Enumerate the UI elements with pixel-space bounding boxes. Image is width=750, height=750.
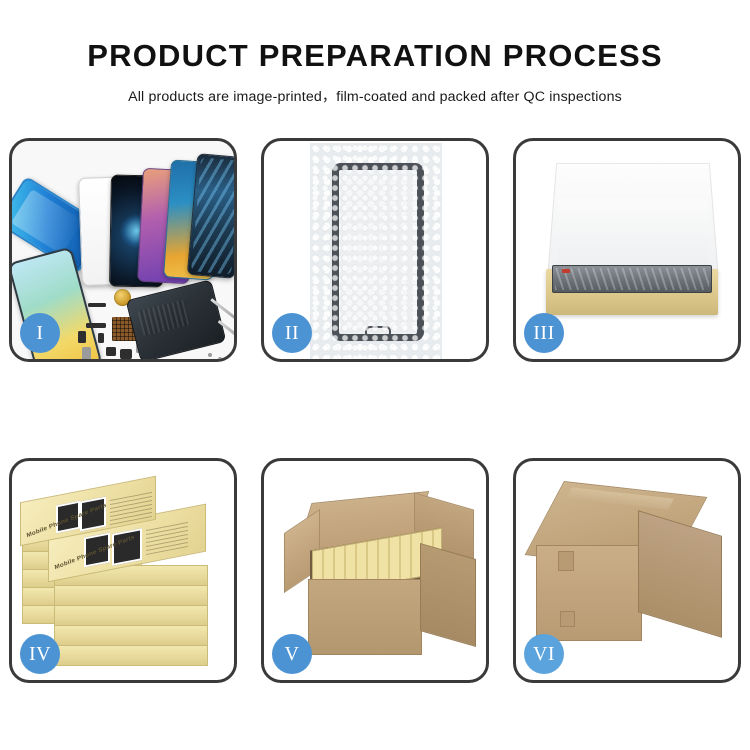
open-shipping-carton: [282, 495, 478, 661]
step-badge-6: VI: [524, 634, 564, 674]
retail-box-right-3: [54, 605, 208, 626]
carton-side-face: [420, 543, 476, 647]
page-title: PRODUCT PREPARATION PROCESS: [0, 0, 750, 74]
process-step-panel-2: II: [261, 138, 489, 362]
process-step-panel-5: V: [261, 458, 489, 683]
bubble-wrap-overlay: [310, 143, 442, 359]
process-step-grid: I II III: [9, 138, 741, 683]
carton-side-face: [638, 510, 722, 638]
step-badge-2: II: [272, 313, 312, 353]
step-badge-5: V: [272, 634, 312, 674]
flex-cable-part-b: [78, 331, 86, 343]
vibrator-motor-part: [82, 347, 91, 359]
screw-part-b: [218, 357, 222, 359]
carton-front-face: [308, 579, 422, 655]
process-step-panel-4: Mobile Phone Spare Parts Mobile Phone Sp…: [9, 458, 237, 683]
flex-cable-part-a: [86, 323, 106, 328]
page-subtitle: All products are image-printed，film-coat…: [0, 74, 750, 106]
retail-box-right-5: [54, 645, 208, 666]
step-badge-1: I: [20, 313, 60, 353]
page-header: PRODUCT PREPARATION PROCESS All products…: [0, 0, 750, 106]
sim-tray-part: [120, 349, 132, 359]
camera-module-part: [106, 347, 116, 356]
step-badge-3: III: [524, 313, 564, 353]
process-step-panel-3: III: [513, 138, 741, 362]
carton-front-face: [536, 545, 642, 641]
qc-label-mark: [562, 269, 570, 273]
retail-box-right-4: [54, 625, 208, 646]
packed-screen-in-box: [552, 265, 712, 293]
process-step-panel-1: I: [9, 138, 237, 362]
earpiece-mesh-part: [88, 303, 106, 307]
retail-box-right-2: [54, 585, 208, 606]
carton-tab-lower: [560, 611, 575, 627]
flex-cable-part-c: [98, 333, 104, 343]
step-badge-4: IV: [20, 634, 60, 674]
screw-part-a: [208, 353, 212, 357]
foam-padding: [558, 199, 708, 275]
process-step-panel-6: VI: [513, 458, 741, 683]
sealed-shipping-carton: [530, 489, 730, 661]
phone-backplate-disassembled: [126, 279, 227, 359]
carton-tab-upper: [558, 551, 574, 571]
